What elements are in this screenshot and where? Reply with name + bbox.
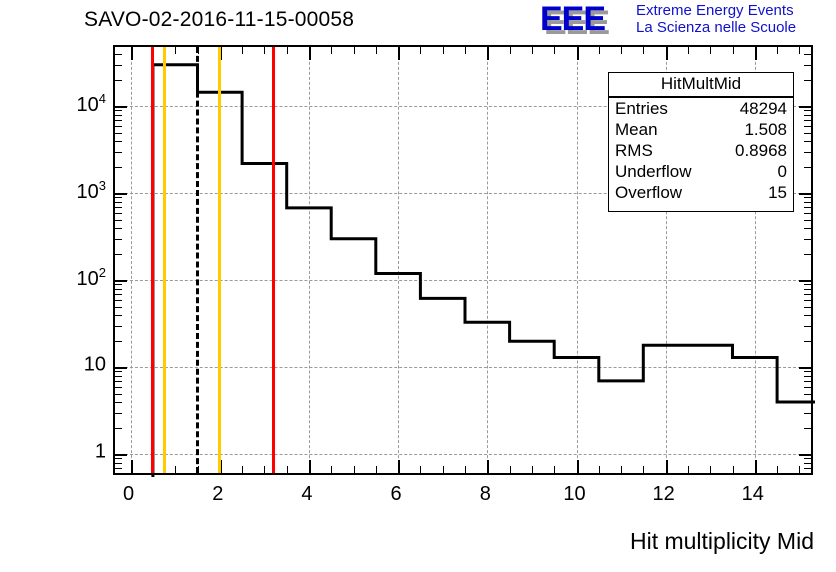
stats-box-rows: Entries48294Mean1.508RMS0.8968Underflow0… [609, 98, 793, 203]
page-title: SAVO-02-2016-11-15-00058 [84, 8, 354, 32]
eee-logo-letters: EEE EEE [538, 2, 634, 36]
marker-line-threshold-red-low [151, 47, 154, 473]
x-tick-label-5: 10 [563, 483, 585, 506]
plot-frame: HitMultMid Entries48294Mean1.508RMS0.896… [113, 45, 813, 475]
stats-row-rms: RMS0.8968 [609, 140, 793, 161]
marker-line-threshold-red-high [272, 47, 275, 473]
stats-row-key: Overflow [615, 182, 682, 203]
stats-row-value: 1.508 [744, 119, 787, 140]
stats-row-overflow: Overflow15 [609, 182, 793, 203]
stats-row-key: Underflow [615, 161, 692, 182]
x-axis-title: Hit multiplicity Mid [630, 528, 814, 555]
marker-line-mean-dashed [196, 47, 199, 473]
stats-box: HitMultMid Entries48294Mean1.508RMS0.896… [608, 72, 794, 212]
x-tick-label-2: 4 [301, 483, 312, 506]
stats-row-value: 15 [768, 182, 787, 203]
stats-row-key: Mean [615, 119, 658, 140]
eee-logo-text: Extreme Energy Events La Scienza nelle S… [636, 2, 796, 36]
y-tick-label-0: 1 [40, 441, 106, 464]
y-tick-label-1: 10 [40, 354, 106, 377]
stats-box-title: HitMultMid [609, 73, 793, 98]
stats-row-key: Entries [615, 98, 668, 119]
marker-line-threshold-orange-low [163, 47, 166, 473]
x-tick-label-7: 14 [742, 483, 764, 506]
eee-logo-line1: Extreme Energy Events [636, 2, 796, 19]
marker-line-threshold-orange-high [218, 47, 221, 473]
eee-logo-line2: La Scienza nelle Scuole [636, 19, 796, 36]
y-tick-label-4: 104 [40, 91, 106, 117]
x-tick-label-4: 8 [480, 483, 491, 506]
eee-logo-letters-front: EEE [540, 2, 605, 36]
x-tick-label-6: 12 [652, 483, 674, 506]
x-tick-label-1: 2 [212, 483, 223, 506]
stats-row-value: 0 [778, 161, 787, 182]
stats-row-key: RMS [615, 140, 653, 161]
stats-row-underflow: Underflow0 [609, 161, 793, 182]
x-tick-label-0: 0 [123, 483, 134, 506]
stats-row-entries: Entries48294 [609, 98, 793, 119]
y-tick-label-3: 103 [40, 178, 106, 204]
stats-row-value: 0.8968 [735, 140, 787, 161]
y-tick-label-2: 102 [40, 265, 106, 291]
stats-row-mean: Mean1.508 [609, 119, 793, 140]
eee-logo: EEE EEE Extreme Energy Events La Scienza… [538, 2, 834, 38]
x-tick-label-3: 6 [391, 483, 402, 506]
stats-row-value: 48294 [740, 98, 787, 119]
